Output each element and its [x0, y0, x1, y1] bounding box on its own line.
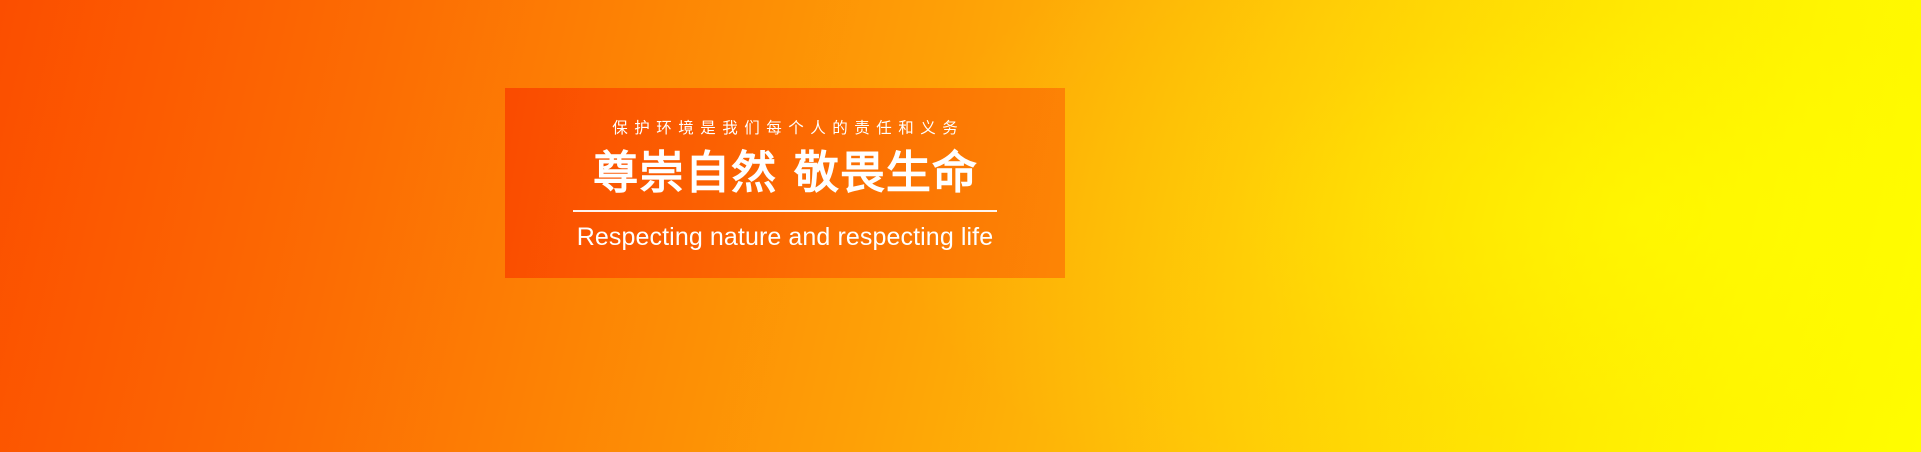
divider-rule	[573, 210, 997, 212]
message-panel: 保护环境是我们每个人的责任和义务 尊崇自然 敬畏生命 Respecting na…	[505, 88, 1065, 278]
eyebrow-slogan: 保护环境是我们每个人的责任和义务	[606, 121, 965, 137]
message-panel-content: 保护环境是我们每个人的责任和义务 尊崇自然 敬畏生命 Respecting na…	[505, 88, 1065, 278]
subtitle-english: Respecting nature and respecting life	[577, 225, 993, 250]
headline-slogan: 尊崇自然 敬畏生命	[592, 149, 978, 197]
environmental-banner: 保护环境是我们每个人的责任和义务 尊崇自然 敬畏生命 Respecting na…	[0, 0, 1921, 452]
